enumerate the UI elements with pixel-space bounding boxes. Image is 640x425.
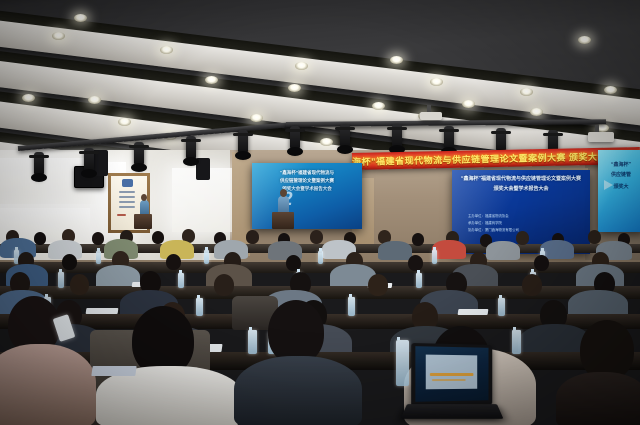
- open-laptop[interactable]: [411, 343, 492, 407]
- audience-body: [378, 241, 412, 260]
- desk-paper: [458, 309, 489, 315]
- water-bottle: [96, 251, 101, 264]
- audience-head: [412, 233, 424, 246]
- water-bottle: [416, 273, 422, 288]
- water-bottle: [248, 330, 257, 354]
- water-bottle: [318, 251, 323, 264]
- stage-light: [444, 126, 454, 152]
- water-bottle: [204, 250, 209, 264]
- ceiling-spotlight: [74, 14, 87, 22]
- poster-seal: [117, 214, 126, 216]
- ceiling-spotlight: [530, 108, 543, 116]
- ceiling-projector: [588, 132, 614, 142]
- water-bottle: [512, 330, 521, 354]
- podium: [272, 212, 294, 229]
- ceiling-spotlight: [430, 78, 443, 86]
- poster-text-line: [119, 196, 135, 198]
- screen-glare: [598, 150, 640, 232]
- ceiling-spotlight: [22, 94, 35, 102]
- water-bottle: [432, 250, 437, 264]
- poster-logo: [122, 179, 133, 187]
- audience-head: [310, 230, 323, 244]
- poster-text-line: [119, 206, 135, 208]
- audience-head: [152, 231, 164, 244]
- stage-light: [134, 142, 144, 168]
- audience-head: [588, 230, 601, 244]
- laptop-screen: [415, 346, 488, 402]
- audience-head: [92, 232, 104, 245]
- audience-head: [62, 254, 77, 270]
- desk-row: [0, 286, 640, 299]
- ceiling-spotlight: [88, 96, 101, 104]
- foreground-head-midright: [268, 300, 324, 364]
- audience-head: [522, 274, 542, 296]
- audience-head: [214, 274, 234, 296]
- water-bottle-foreground: [396, 340, 409, 386]
- water-bottle: [58, 272, 64, 288]
- ceiling-spotlight: [520, 88, 533, 96]
- water-bottle: [498, 298, 505, 316]
- foreground-head-far-right: [580, 320, 634, 380]
- audience-head: [408, 255, 423, 271]
- screen-glare: [252, 163, 362, 229]
- foreground-body-left: [0, 344, 96, 425]
- audience-head: [166, 254, 181, 270]
- ceiling-spotlight: [205, 76, 218, 84]
- ceiling-projector: [420, 112, 442, 120]
- ceiling-spotlight: [320, 138, 333, 146]
- ceiling-spotlight: [604, 86, 617, 94]
- stage-light: [340, 124, 350, 150]
- ceiling-spotlight: [462, 100, 475, 108]
- water-bottle: [348, 297, 355, 316]
- ceiling-spotlight: [52, 32, 65, 40]
- desk-paper: [86, 308, 119, 314]
- ceiling-spotlight: [390, 56, 403, 64]
- foreground-body-far-right: [556, 372, 640, 425]
- foreground-body-midright: [234, 356, 362, 425]
- poster-text-line: [119, 201, 135, 203]
- audience-head: [368, 274, 388, 296]
- right-side-screen: “鑫海杯” 供应链管 颁奖大: [598, 150, 640, 232]
- podium-left: [134, 214, 152, 229]
- laptop-keyboard[interactable]: [401, 404, 504, 419]
- ceiling-spotlight: [578, 36, 591, 44]
- water-bottle: [196, 298, 203, 316]
- main-screen-surface: “鑫海杯”福建省现代物流与 供应链管理论文暨案例大赛 颁奖大会暨学术报告大会 2: [252, 163, 362, 229]
- ceiling-spotlight: [118, 118, 131, 126]
- conference-hall-photo: “鑫海杯”福建省现代物流与供应链管理论文暨案例大赛 颁奖大会暨学术报告 “鑫海杯…: [0, 0, 640, 425]
- right-screen-surface: “鑫海杯” 供应链管 颁奖大: [598, 150, 640, 232]
- stage-light: [392, 124, 402, 150]
- standing-person-head: [141, 194, 147, 201]
- laptop-chart-line: [432, 379, 466, 381]
- laptop-chart-line: [430, 373, 474, 376]
- stage-light: [186, 136, 196, 162]
- ceiling-spotlight: [250, 114, 263, 122]
- poster-text-line: [119, 191, 135, 193]
- audience-head: [246, 230, 259, 244]
- stage-light: [290, 126, 300, 152]
- water-bottle: [178, 273, 184, 288]
- audience-body: [486, 241, 520, 260]
- main-projection-screen: “鑫海杯”福建省现代物流与 供应链管理论文暨案例大赛 颁奖大会暨学术报告大会 2: [252, 163, 362, 229]
- speaker-head: [280, 189, 287, 197]
- audience-head: [516, 231, 529, 245]
- stage-light: [34, 152, 44, 178]
- stage-light: [238, 130, 248, 156]
- stage-light: [84, 148, 94, 174]
- ceiling-spotlight: [372, 102, 385, 110]
- laptop-document: [426, 355, 477, 390]
- foreground-paper: [91, 366, 136, 376]
- ceiling-spotlight: [160, 46, 173, 54]
- audience-head: [70, 274, 89, 295]
- audience-head: [534, 255, 549, 271]
- ceiling-spotlight: [288, 84, 301, 92]
- audience-head: [34, 232, 46, 245]
- ceiling-spotlight: [295, 62, 308, 70]
- audience-body: [432, 240, 466, 259]
